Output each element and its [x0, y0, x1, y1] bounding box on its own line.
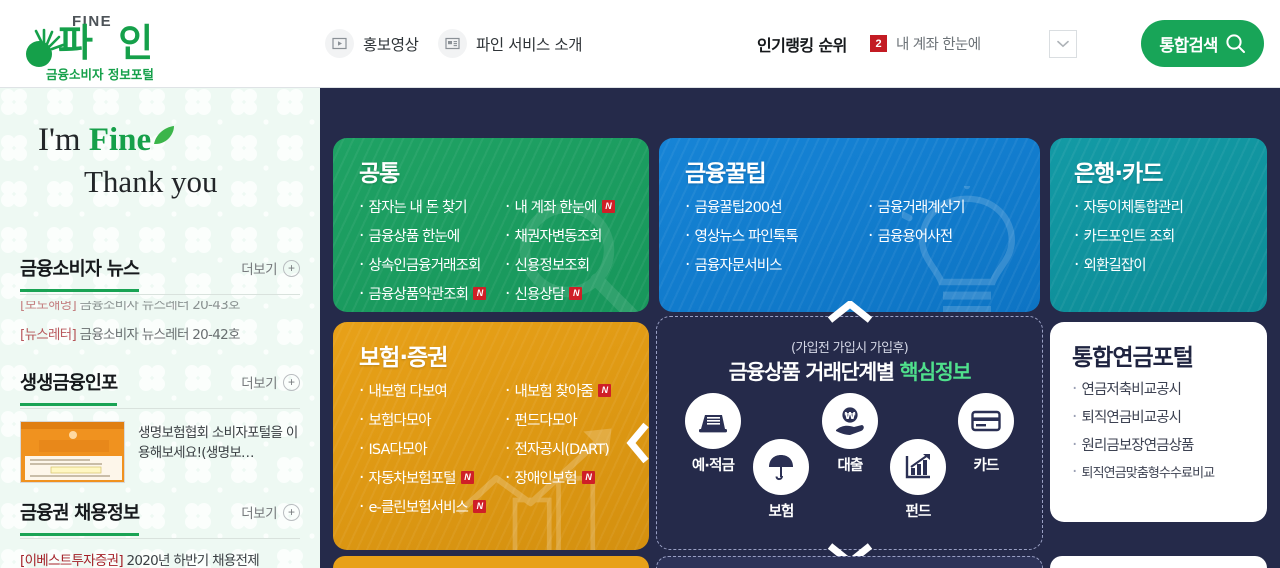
link-tips-5[interactable]: 금융용어사전 [868, 225, 952, 246]
more-button-living-finance-info[interactable]: 더보기 + [241, 372, 300, 392]
integrated-search-button[interactable]: 통합검색 [1141, 20, 1264, 67]
card-peek-right[interactable] [1050, 556, 1267, 568]
link-label: 자동차보험포털 [369, 467, 456, 488]
document-list-icon [438, 29, 467, 58]
link-pension-1[interactable]: 연금저축비교공시 [1072, 378, 1181, 399]
link-common-3[interactable]: 상속인금융거래조회 [359, 254, 480, 275]
link-label: 퇴직연금비교공시 [1082, 406, 1182, 427]
carousel-node-label: 카드 [958, 454, 1014, 475]
link-label: 금융자문서비스 [695, 254, 782, 275]
new-badge: N [598, 384, 611, 397]
link-label: 펀드다모아 [515, 409, 577, 430]
card-title-pension-portal: 통합연금포털 [1072, 338, 1193, 372]
link-label: 전자공시(DART) [515, 438, 609, 459]
news-tag: [뉴스레터] [20, 327, 76, 343]
link-label: 영상뉴스 파인톡톡 [695, 225, 798, 246]
link-common-2[interactable]: 금융상품 한눈에 [359, 225, 459, 246]
slogan-line-1: I'm Fine [38, 122, 151, 159]
card-title-financial-tips: 금융꿀팁 [685, 154, 766, 188]
link-label: 원리금보장연금상품 [1082, 434, 1194, 455]
popular-ranking-title: 인기랭킹 순위 [757, 32, 847, 56]
nav-label-promo-video: 홍보영상 [363, 33, 418, 55]
link-ins-2[interactable]: 보험다모아 [359, 409, 431, 430]
ranking-toggle-button[interactable] [1049, 30, 1077, 58]
carousel-node-label: 예·적금 [685, 454, 741, 475]
link-label: 자동이체통합관리 [1084, 196, 1184, 217]
link-pension-3[interactable]: 원리금보장연금상품 [1072, 434, 1193, 455]
link-label: 카드포인트 조회 [1084, 225, 1175, 246]
new-badge: N [473, 500, 486, 513]
section-recruitment-info: 금융권 채용정보 더보기 + [이베스트투자증권] 2020년 하반기 채용전제… [20, 499, 300, 568]
link-bank-2[interactable]: 카드포인트 조회 [1074, 225, 1174, 246]
link-label: 외환길잡이 [1084, 254, 1146, 275]
link-ins-5[interactable]: e-클린보험서비스N [359, 496, 486, 517]
link-label: 금융용어사전 [878, 225, 953, 246]
link-label: 금융꿀팁200선 [695, 196, 782, 217]
play-video-icon [325, 29, 354, 58]
new-badge: N [602, 200, 615, 213]
main-stage: 공통 잠자는 내 돈 찾기 금융상품 한눈에 상속인금융거래조회 금융상품약관조… [320, 88, 1280, 568]
link-common-7[interactable]: 신용정보조회 [505, 254, 589, 275]
section-consumer-news: 금융소비자 뉴스 더보기 + [보도해명] 금융소비자 뉴스레터 20-43호 … [20, 255, 300, 359]
slogan-block: I'm Fine Thank you [0, 116, 320, 226]
link-common-4[interactable]: 금융상품약관조회N [359, 283, 486, 304]
link-label: ISA다모아 [369, 438, 427, 459]
card-peek-center[interactable] [656, 556, 1043, 568]
carousel-up-button[interactable] [827, 301, 873, 323]
list-item[interactable]: [뉴스레터] 금융소비자 뉴스레터 20-42호 [20, 323, 240, 343]
carousel-node-insurance[interactable]: 보험 [753, 439, 809, 521]
card-common[interactable]: 공통 잠자는 내 돈 찾기 금융상품 한눈에 상속인금융거래조회 금융상품약관조… [333, 138, 649, 312]
carousel-title-plain: 금융상품 거래단계별 [729, 360, 900, 384]
leaf-icon [152, 125, 176, 147]
link-ins-4[interactable]: 자동차보험포털N [359, 467, 474, 488]
news-text: 금융소비자 뉴스레터 20-42호 [76, 327, 240, 343]
slogan-fine: Fine [89, 122, 151, 158]
carousel-node-label: 펀드 [890, 500, 946, 521]
search-button-label: 통합검색 [1159, 32, 1217, 56]
carousel-prev-button[interactable] [625, 421, 651, 465]
job-ticker: [이베스트투자증권] 2020년 하반기 채용전제 형 인턴 채용 (대졸 수시… [20, 551, 300, 568]
left-sidebar: I'm Fine Thank you 금융소비자 뉴스 더보기 + [보도해명]… [0, 88, 320, 568]
card-title-common: 공통 [359, 154, 399, 188]
link-label: 내 계좌 한눈에 [515, 196, 597, 217]
link-ins-3[interactable]: ISA다모아 [359, 438, 427, 459]
info-text[interactable]: 생명보험협회 소비자포털을 이용해보세요!(생명보… [138, 423, 300, 463]
link-ins-9[interactable]: 장애인보험N [505, 467, 595, 488]
link-label: 금융상품 한눈에 [369, 225, 460, 246]
link-label: e-클린보험서비스 [369, 496, 468, 517]
news-ticker: [보도해명] 금융소비자 뉴스레터 20-43호 [뉴스레터] 금융소비자 뉴스… [20, 301, 300, 359]
umbrella-icon [753, 439, 809, 495]
section-header: 금융소비자 뉴스 더보기 + [20, 255, 300, 295]
link-ins-7[interactable]: 펀드다모아 [505, 409, 577, 430]
chevron-up-icon [827, 301, 873, 323]
card-peek-left[interactable] [333, 556, 649, 568]
carousel-title-highlight: 핵심정보 [900, 360, 971, 384]
more-label: 더보기 [241, 258, 277, 278]
link-ins-8[interactable]: 전자공시(DART) [505, 438, 609, 459]
bankbook-icon [685, 393, 741, 449]
carousel-node-fund[interactable]: 펀드 [890, 439, 946, 521]
carousel-next-button[interactable] [1048, 421, 1074, 465]
info-thumbnail[interactable] [20, 421, 125, 483]
svg-text:₩: ₩ [844, 411, 855, 422]
more-label: 더보기 [241, 502, 277, 522]
link-label: 내보험 다보여 [369, 380, 447, 401]
nav-label-service-intro: 파인 서비스 소개 [476, 33, 582, 55]
link-label: 금융거래계산기 [878, 196, 965, 217]
card-bank-card[interactable]: 은행·카드 자동이체통합관리 카드포인트 조회 외환길잡이 [1050, 138, 1267, 312]
carousel-title: 금융상품 거래단계별 핵심정보 [657, 355, 1042, 385]
link-tips-2[interactable]: 영상뉴스 파인톡톡 [685, 225, 798, 246]
link-label: 신용정보조회 [515, 254, 590, 275]
banner-thumbnail-image [21, 422, 125, 483]
site-header: FINE 파 인 금융소비자 정보포털 홍보영상 [0, 0, 1280, 88]
hand-won-icon: ₩ [822, 393, 878, 449]
carousel-node-label: 보험 [753, 500, 809, 521]
site-logo[interactable]: FINE 파 인 금융소비자 정보포털 [14, 12, 184, 78]
search-icon [1225, 33, 1246, 54]
link-tips-4[interactable]: 금융거래계산기 [868, 196, 965, 217]
logo-main-text: 파 인 [58, 24, 159, 62]
news-text: 금융소비자 뉴스레터 20-43호 [76, 301, 240, 313]
job-tag: [이베스트투자증권] [20, 553, 123, 568]
list-item[interactable]: [보도해명] 금융소비자 뉴스레터 20-43호 [20, 301, 240, 313]
nav-item-service-intro[interactable]: 파인 서비스 소개 [438, 29, 582, 58]
new-badge: N [461, 471, 474, 484]
carousel-node-card[interactable]: 카드 [958, 393, 1014, 475]
card-title-bank-card: 은행·카드 [1074, 154, 1162, 188]
new-badge: N [473, 287, 486, 300]
section-title-living-finance-info: 생생금융인포 [20, 369, 117, 406]
link-label: 잠자는 내 돈 찾기 [369, 196, 467, 217]
link-label: 보험다모아 [369, 409, 431, 430]
carousel-node-deposit[interactable]: 예·적금 [685, 393, 741, 475]
link-common-6[interactable]: 채권자변동조회 [505, 225, 602, 246]
section-title-consumer-news: 금융소비자 뉴스 [20, 255, 139, 292]
credit-card-icon [958, 393, 1014, 449]
link-tips-3[interactable]: 금융자문서비스 [685, 254, 782, 275]
link-tips-1[interactable]: 금융꿀팁200선 [685, 196, 782, 217]
card-title-insurance-securities: 보험·증권 [359, 338, 447, 372]
link-label: 퇴직연금맞춤형수수료비교 [1082, 462, 1215, 481]
nav-item-promo-video[interactable]: 홍보영상 [325, 29, 418, 58]
ranking-rank-badge: 2 [870, 35, 887, 52]
chevron-down-icon [1057, 40, 1069, 48]
product-stage-carousel: (가입전 가입시 가입후) 금융상품 거래단계별 핵심정보 [656, 316, 1043, 550]
link-ins-1[interactable]: 내보험 다보여 [359, 380, 447, 401]
link-label: 금융상품약관조회 [369, 283, 469, 304]
link-label: 내보험 찾아줌 [515, 380, 593, 401]
link-label: 장애인보험 [515, 467, 577, 488]
link-common-5[interactable]: 내 계좌 한눈에N [505, 196, 615, 217]
link-label: 신용상담 [515, 283, 565, 304]
section-header: 생생금융인포 더보기 + [20, 369, 300, 409]
news-tag: [보도해명] [20, 301, 76, 313]
link-common-1[interactable]: 잠자는 내 돈 찾기 [359, 196, 467, 217]
info-item[interactable]: 생명보험협회 소비자포털을 이용해보세요!(생명보… [20, 421, 300, 491]
new-badge: N [569, 287, 582, 300]
carousel-node-label: 대출 [822, 454, 878, 475]
link-label: 채권자변동조회 [515, 225, 602, 246]
link-ins-6[interactable]: 내보험 찾아줌N [505, 380, 611, 401]
logo-sub-text: 금융소비자 정보포털 [46, 64, 154, 83]
link-common-8[interactable]: 신용상담N [505, 283, 582, 304]
link-pension-2[interactable]: 퇴직연금비교공시 [1072, 406, 1181, 427]
more-button-consumer-news[interactable]: 더보기 + [241, 258, 300, 278]
link-bank-1[interactable]: 자동이체통합관리 [1074, 196, 1183, 217]
carousel-node-loan[interactable]: ₩ 대출 [822, 393, 878, 475]
carousel-subtitle: (가입전 가입시 가입후) [657, 337, 1042, 356]
slogan-im: I'm [38, 122, 89, 158]
more-label: 더보기 [241, 372, 277, 392]
list-item[interactable]: [이베스트투자증권] 2020년 하반기 채용전제 [20, 551, 300, 568]
section-living-finance-info: 생생금융인포 더보기 + 생명보험협회 소비자 [20, 369, 300, 491]
card-financial-tips[interactable]: 금융꿀팁 금융꿀팁200선 영상뉴스 파인톡톡 금융자문서비스 금융거래계산기 … [659, 138, 1040, 312]
chevron-right-icon [1048, 421, 1074, 465]
link-label: 상속인금융거래조회 [369, 254, 481, 275]
link-bank-3[interactable]: 외환길잡이 [1074, 254, 1146, 275]
chevron-left-icon [625, 421, 651, 465]
more-button-recruitment-info[interactable]: 더보기 + [241, 502, 300, 522]
slogan-line-2: Thank you [84, 164, 217, 200]
ranking-item-link[interactable]: 내 계좌 한눈에 [896, 33, 980, 54]
new-badge: N [582, 471, 595, 484]
card-insurance-securities[interactable]: 보험·증권 내보험 다보여 보험다모아 ISA다모아 자동차보험포털N e-클린… [333, 322, 649, 550]
link-label: 연금저축비교공시 [1082, 378, 1182, 399]
section-title-recruitment-info: 금융권 채용정보 [20, 499, 139, 536]
section-header: 금융권 채용정보 더보기 + [20, 499, 300, 539]
job-text: 2020년 하반기 채용전제 [123, 553, 259, 568]
card-pension-portal[interactable]: 통합연금포털 연금저축비교공시 퇴직연금비교공시 원리금보장연금상품 퇴직연금맞… [1050, 322, 1267, 522]
plus-icon: + [283, 374, 300, 391]
plus-icon: + [283, 504, 300, 521]
link-pension-4[interactable]: 퇴직연금맞춤형수수료비교 [1072, 462, 1214, 481]
bar-chart-arrow-icon [890, 439, 946, 495]
plus-icon: + [283, 260, 300, 277]
